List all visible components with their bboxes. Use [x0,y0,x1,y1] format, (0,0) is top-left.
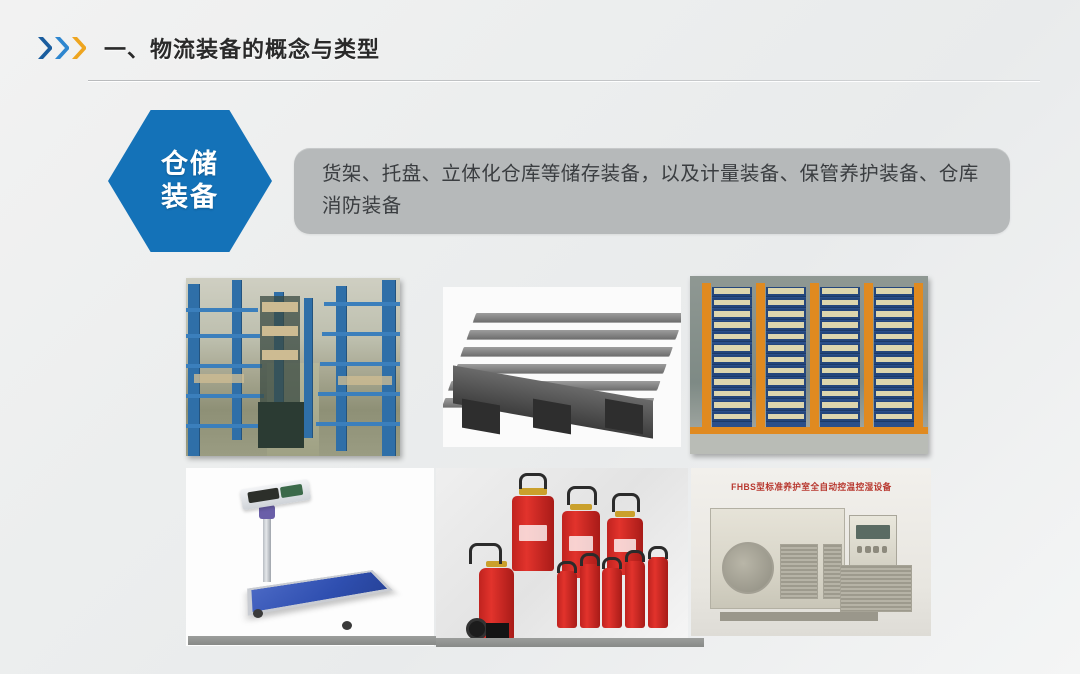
pallet-load [714,345,749,350]
rack-cell [712,412,752,422]
pallet-load [876,368,911,373]
rack-cell [820,412,860,422]
cart-handle [469,543,502,564]
rack-cell [766,287,806,297]
stored-goods [194,374,244,383]
pallet-load [822,414,857,419]
pallet-load [768,379,803,384]
extinguisher-handle [519,473,547,489]
control-button[interactable] [857,546,863,553]
rack-cell [874,287,914,297]
rack-beam [324,302,400,306]
pallet-load [714,288,749,293]
pallet-load [768,334,803,339]
extinguisher-label [569,536,593,551]
racking-illustration [186,278,400,456]
scale-indicator-head [239,479,311,511]
control-button[interactable] [865,546,871,553]
rack-beam [186,308,258,312]
pallet-load [876,357,911,362]
rack-cell [712,309,752,319]
photo-fire-extinguishers [436,468,688,646]
scale-foot [342,621,352,630]
scale-illustration [186,468,434,646]
rack-cell [820,378,860,388]
photo-climate-control-equipment: FHBS型标准养护室全自动控温控湿设备 [691,468,931,636]
stored-goods [262,350,298,360]
pallet-load [822,368,857,373]
cart-wheel [466,618,488,640]
rack-cell [874,366,914,376]
portable-extinguisher [557,571,577,628]
rack-cell [766,309,806,319]
photo-automated-warehouse [690,276,928,454]
pallet-load [876,288,911,293]
pallet-load [822,322,857,327]
pallet-load [876,379,911,384]
rack-upright [336,286,347,451]
extinguisher-handle [602,557,622,569]
pallet-load [768,311,803,316]
control-button[interactable] [873,546,879,553]
rack-cell [712,298,752,308]
photo-weighing-scale [186,468,434,646]
condenser-grille [840,565,912,612]
pallet-load [714,391,749,396]
rack-cell [874,344,914,354]
rack-cell [874,321,914,331]
chevron-group-icon [36,35,86,61]
pallet-load [876,334,911,339]
rack-beam [186,424,266,428]
rack-cell [820,355,860,365]
pallet-load [714,311,749,316]
rack-cell [874,309,914,319]
rack-cell [712,287,752,297]
pallet-load [876,414,911,419]
pallet-load [714,334,749,339]
rack-cell [712,344,752,354]
storage-bay [820,287,860,429]
rack-beam [186,394,264,398]
rack-cell [874,332,914,342]
rack-cell [874,389,914,399]
extinguisher-handle [557,561,577,573]
scale-display [247,488,280,503]
rack-cell [766,366,806,376]
pallet-load [768,345,803,350]
rack-cell [820,298,860,308]
pallet-load [876,300,911,305]
stored-goods [262,326,298,336]
rack-cell [766,344,806,354]
portable-extinguisher [580,564,600,628]
control-panel [849,515,897,569]
rack-upright [304,298,313,438]
fan-icon [722,542,774,594]
extinguisher-handle [625,550,645,562]
stacker-crane-mast [914,283,923,433]
pallet-slat [461,347,674,356]
pallet-load [714,402,749,407]
pallet-load [822,288,857,293]
rack-cell [712,332,752,342]
rack-cell [874,412,914,422]
pallet-load [714,322,749,327]
photo-pallet [443,287,681,447]
pallet-illustration [443,287,681,447]
extinguisher-handle [580,553,600,565]
climate-equipment-caption: FHBS型标准养护室全自动控温控湿设备 [706,480,916,493]
pallet-load [714,379,749,384]
stacker-crane-mast [756,283,765,433]
rack-cell [766,355,806,365]
rack-cell [712,401,752,411]
hexagon-label-line1: 仓储 [161,148,219,181]
pallet-load [876,402,911,407]
storage-bay [712,287,752,429]
rack-cell [820,321,860,331]
pallet-load [822,345,857,350]
pallet-load [876,345,911,350]
storage-bay [766,287,806,429]
stored-goods [338,376,392,385]
rack-cell [874,298,914,308]
pallet-load [714,357,749,362]
pallet-load [822,391,857,396]
chevron-right-icon-3 [70,35,86,61]
pallet-load [822,334,857,339]
pallet-load [876,311,911,316]
rack-cell [820,287,860,297]
control-display [856,525,890,538]
extinguisher-label [519,525,546,541]
fire-illustration [436,468,688,646]
category-hexagon-badge: 仓储 装备 [108,110,272,252]
pallet-load [876,391,911,396]
rack-cell [712,389,752,399]
pallet-load [822,357,857,362]
chevron-right-icon-1 [36,35,52,61]
rack-beam [186,364,262,368]
pallet-slat [467,330,680,339]
storage-bay [874,287,914,429]
rack-cell [766,412,806,422]
pallet-slat [473,313,681,322]
stacker-crane-mast [810,283,819,433]
slide-title-row: 一、物流装备的概念与类型 [36,28,380,68]
rack-beam [322,332,400,336]
asrs-illustration [690,276,928,454]
pallet-load [822,300,857,305]
rack-upright [232,280,242,440]
description-panel: 货架、托盘、立体化仓库等储存装备，以及计量装备、保管养护装备、仓库消防装备 [294,148,1010,234]
stacker-crane-mast [702,283,711,433]
pallet-load [768,402,803,407]
rack-cell [766,401,806,411]
rack-cell [712,366,752,376]
chevron-right-icon-2 [53,35,69,61]
pallet-load [714,300,749,305]
portable-extinguisher [602,568,622,629]
pallet-load [714,414,749,419]
pallet-load [876,322,911,327]
rack-cell [712,378,752,388]
rack-cell [766,389,806,399]
photo-shadow-bar [188,636,436,645]
hexagon-shape: 仓储 装备 [108,110,272,252]
portable-extinguisher [625,561,645,629]
wheeled-extinguisher [512,496,555,571]
lower-rack-block [258,402,304,448]
scale-keypad [280,484,304,498]
pallet-load [768,368,803,373]
portable-extinguisher [648,557,668,628]
description-text: 货架、托盘、立体化仓库等储存装备，以及计量装备、保管养护装备、仓库消防装备 [322,159,984,222]
rack-beam [318,392,400,396]
crane-rail [690,427,928,434]
pallet-block [533,399,571,435]
scale-foot [253,609,263,618]
rack-beam [320,362,400,366]
rack-cell [820,309,860,319]
rack-cell [874,355,914,365]
stored-goods [262,302,298,312]
page-title: 一、物流装备的概念与类型 [104,32,380,64]
extinguisher-handle [648,546,668,558]
pallet-block [462,399,500,435]
control-button[interactable] [882,546,888,553]
scale-column-joint [259,505,275,519]
pallet-load [822,311,857,316]
pallet-load [768,357,803,362]
title-divider [88,80,1040,81]
rack-beam [316,422,400,426]
warehouse-floor [690,433,928,454]
rack-cell [874,401,914,411]
stacker-crane-mast [864,283,873,433]
scale-column [263,511,271,582]
rack-cell [766,332,806,342]
unit-grille [780,544,818,599]
rack-cell [766,378,806,388]
rack-cell [820,401,860,411]
pallet-load [822,402,857,407]
pallet-load [822,379,857,384]
rack-cell [874,378,914,388]
equipment-base [720,612,878,620]
pallet-load [768,391,803,396]
rack-cell [712,321,752,331]
extinguisher-handle [567,486,597,506]
pallet-load [768,322,803,327]
rack-cell [766,321,806,331]
rack-beam [186,334,260,338]
rack-cell [820,389,860,399]
rack-cell [820,344,860,354]
pallet-load [768,300,803,305]
cart-base [486,623,509,639]
climate-illustration: FHBS型标准养护室全自动控温控湿设备 [691,468,931,636]
rack-cell [766,298,806,308]
photo-racking [186,278,400,456]
pallet-load [714,368,749,373]
pallet-load [768,288,803,293]
rack-upright [382,280,396,456]
rack-cell [820,332,860,342]
extinguisher-handle [612,493,640,513]
rack-cell [712,355,752,365]
pallet-load [768,414,803,419]
photo-shadow-bar [436,638,704,647]
rack-cell [820,366,860,376]
hexagon-label-line2: 装备 [161,181,219,214]
